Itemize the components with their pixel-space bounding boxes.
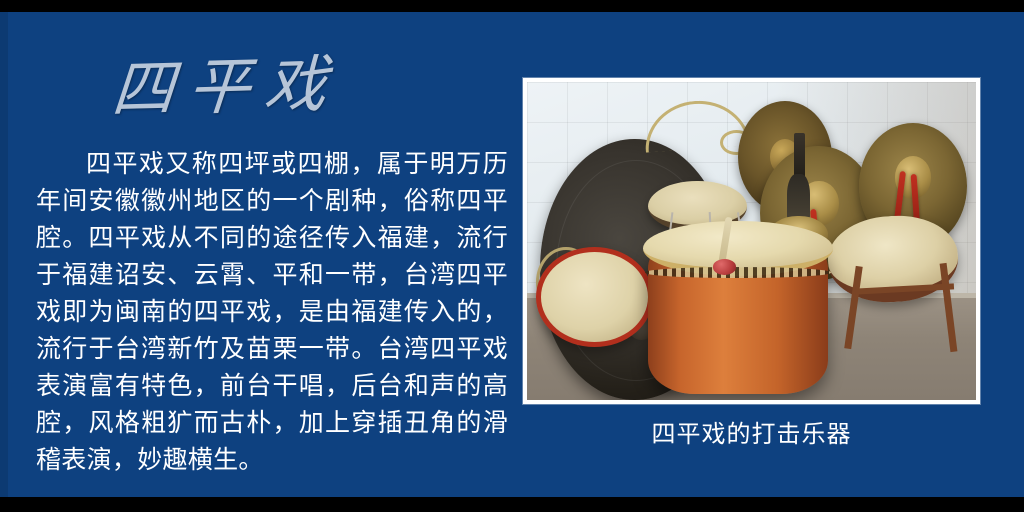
letterbox-bar-bottom [0,497,1024,512]
photo-caption: 四平戏的打击乐器 [523,414,980,449]
left-edge-strip [0,12,8,497]
left-drum-red-hoop [536,247,653,347]
page-title: 四平戏 [109,40,416,132]
barrel-drum-tack-ring [645,267,832,278]
body-paragraph: 四平戏又称四坪或四棚，属于明万历年间安徽徽州地区的一个剧种，俗称四平腔。四平戏从… [36,145,508,478]
large-barrel-drum [648,241,828,394]
slide-root: 四平戏 四平戏又称四坪或四棚，属于明万历年间安徽徽州地区的一个剧种，俗称四平腔。… [0,0,1024,512]
letterbox-bar-top [0,0,1024,12]
drum-mallet-head [713,259,736,274]
slide-canvas: 四平戏 四平戏又称四坪或四棚，属于明万历年间安徽徽州地区的一个剧种，俗称四平腔。… [0,12,1024,497]
instruments-photo [527,82,976,400]
photo-frame [523,78,980,404]
